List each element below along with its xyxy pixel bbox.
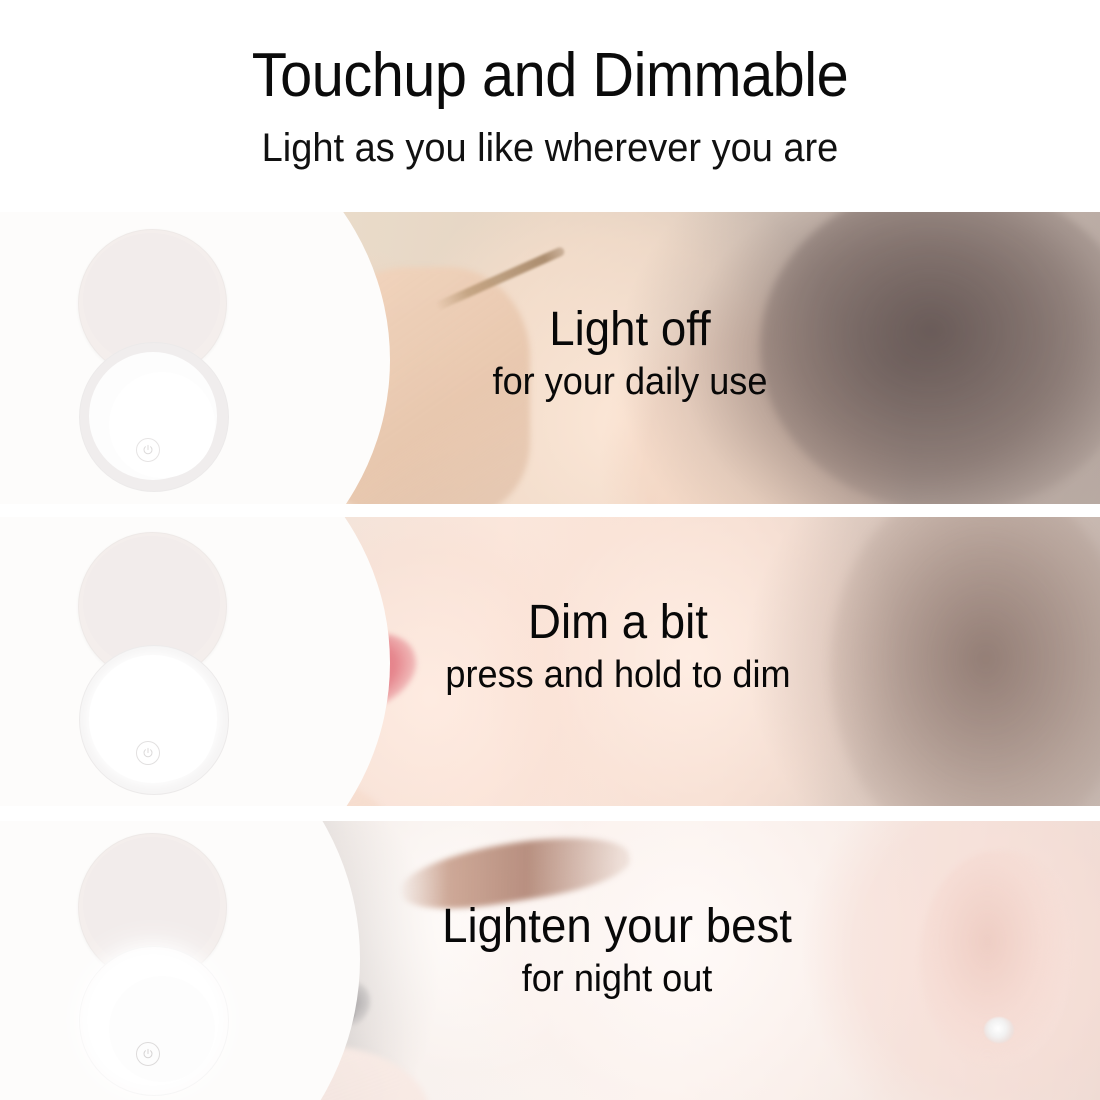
- photo-earring: [984, 1017, 1014, 1043]
- mirror-base: [79, 645, 229, 795]
- mirror-face: [109, 976, 215, 1082]
- power-button[interactable]: [136, 438, 160, 462]
- power-button[interactable]: [136, 741, 160, 765]
- header: Touchup and Dimmable Light as you like w…: [0, 0, 1100, 212]
- photo-eyebrow-region: [397, 825, 633, 918]
- photo-hair-region: [830, 517, 1100, 806]
- feature-panel-light-off: Light off for your daily use: [0, 212, 1100, 504]
- mirror-face: [109, 372, 215, 478]
- photo-hair-region: [760, 212, 1100, 504]
- feature-panel-dim-a-bit: Dim a bit press and hold to dim: [0, 517, 1100, 806]
- power-icon: [142, 444, 154, 456]
- compact-led-mirror: [78, 833, 228, 1095]
- power-button[interactable]: [136, 1042, 160, 1066]
- power-icon: [142, 747, 154, 759]
- product-feature-page: Touchup and Dimmable Light as you like w…: [0, 0, 1100, 1100]
- mirror-base: [79, 946, 229, 1096]
- feature-panel-lighten-your-best: Lighten your best for night out: [0, 821, 1100, 1100]
- compact-led-mirror: [78, 532, 228, 794]
- mirror-base: [79, 342, 229, 492]
- power-icon: [142, 1048, 154, 1060]
- mirror-face: [109, 675, 215, 781]
- compact-led-mirror: [78, 229, 228, 491]
- page-title: Touchup and Dimmable: [39, 40, 1062, 112]
- page-subtitle: Light as you like wherever you are: [28, 123, 1073, 173]
